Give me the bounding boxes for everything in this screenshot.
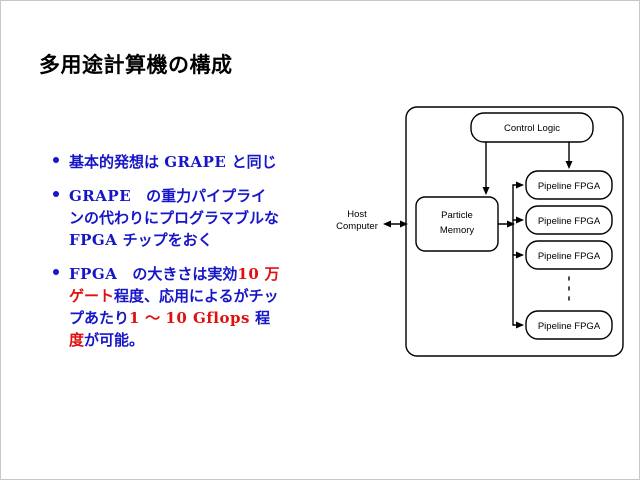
bullet-line: GRAPE の重力パイプライ xyxy=(69,185,363,207)
text-run: FPGA xyxy=(69,265,117,283)
bullet-item: GRAPE の重力パイプラインの代わりにプログラマブルなFPGA チップをおく xyxy=(53,185,363,251)
text-run: 度 xyxy=(69,331,84,349)
text-run: 程度、応用によるがチッ xyxy=(114,287,279,305)
bullet-text: GRAPE の重力パイプラインの代わりにプログラマブルなFPGA チップをおく xyxy=(69,185,363,251)
particle-memory-box xyxy=(416,197,498,251)
bullet-item: 基本的発想は GRAPE と同じ xyxy=(53,151,363,173)
text-run: の重力パイプライ xyxy=(131,187,266,205)
bullet-line: プあたり1 ～ 10 Gflops 程 xyxy=(69,307,363,329)
particle-memory-label-line2: Memory xyxy=(440,225,475,236)
architecture-diagram: Host Computer Control Logic Particle Mem… xyxy=(331,97,631,357)
text-run: GRAPE xyxy=(69,187,131,205)
pipeline-fpga-label-3: Pipeline FPGA xyxy=(538,251,601,262)
arrowhead-host-left xyxy=(383,221,391,228)
text-run: ゲート xyxy=(69,287,114,305)
text-run: 10 Gflops xyxy=(165,309,250,327)
bullet-list: 基本的発想は GRAPE と同じGRAPE の重力パイプラインの代わりにプログラ… xyxy=(53,151,363,363)
text-run: 程 xyxy=(250,309,270,327)
pipeline-fpga-label-4: Pipeline FPGA xyxy=(538,321,601,332)
control-logic-label: Control Logic xyxy=(504,123,560,134)
pipeline-fpga-label-2: Pipeline FPGA xyxy=(538,216,601,227)
bullet-line: 度が可能。 xyxy=(69,329,363,351)
host-computer-label-line1: Host xyxy=(347,209,367,220)
particle-memory-label-line1: Particle xyxy=(441,210,473,221)
text-run: の大きさは実効 xyxy=(117,265,237,283)
text-run: 10 xyxy=(237,265,259,283)
text-run: GRAPE xyxy=(164,153,226,171)
bullet-item: FPGA の大きさは実効10 万ゲート程度、応用によるがチップあたり1 ～ 10… xyxy=(53,263,363,351)
bullet-line: FPGA チップをおく xyxy=(69,229,363,251)
bullet-text: 基本的発想は GRAPE と同じ xyxy=(69,151,363,173)
slide-canvas: 多用途計算機の構成 基本的発想は GRAPE と同じGRAPE の重力パイプライ… xyxy=(0,0,640,480)
page-title: 多用途計算機の構成 xyxy=(39,49,233,79)
text-run: 万 xyxy=(259,265,279,283)
bullet-line: ゲート程度、応用によるがチッ xyxy=(69,285,363,307)
text-run: 1 xyxy=(129,309,140,327)
host-computer-label-line2: Computer xyxy=(336,221,378,232)
text-run: が可能。 xyxy=(84,331,144,349)
text-run: ンの代わりにプログラマブルな xyxy=(69,209,279,227)
bullet-line: 基本的発想は GRAPE と同じ xyxy=(69,151,363,173)
text-run: FPGA xyxy=(69,231,117,249)
pipeline-fpga-label-1: Pipeline FPGA xyxy=(538,181,601,192)
text-run: チップをおく xyxy=(117,231,212,249)
bullet-text: FPGA の大きさは実効10 万ゲート程度、応用によるがチップあたり1 ～ 10… xyxy=(69,263,363,351)
text-run: プあたり xyxy=(69,309,129,327)
text-run: と同じ xyxy=(226,153,276,171)
bullet-dot-icon xyxy=(53,269,59,275)
bullet-dot-icon xyxy=(53,157,59,163)
bullet-dot-icon xyxy=(53,191,59,197)
text-run: 基本的発想は xyxy=(69,153,164,171)
bullet-line: ンの代わりにプログラマブルな xyxy=(69,207,363,229)
bullet-line: FPGA の大きさは実効10 万 xyxy=(69,263,363,285)
text-run: ～ xyxy=(140,309,165,327)
